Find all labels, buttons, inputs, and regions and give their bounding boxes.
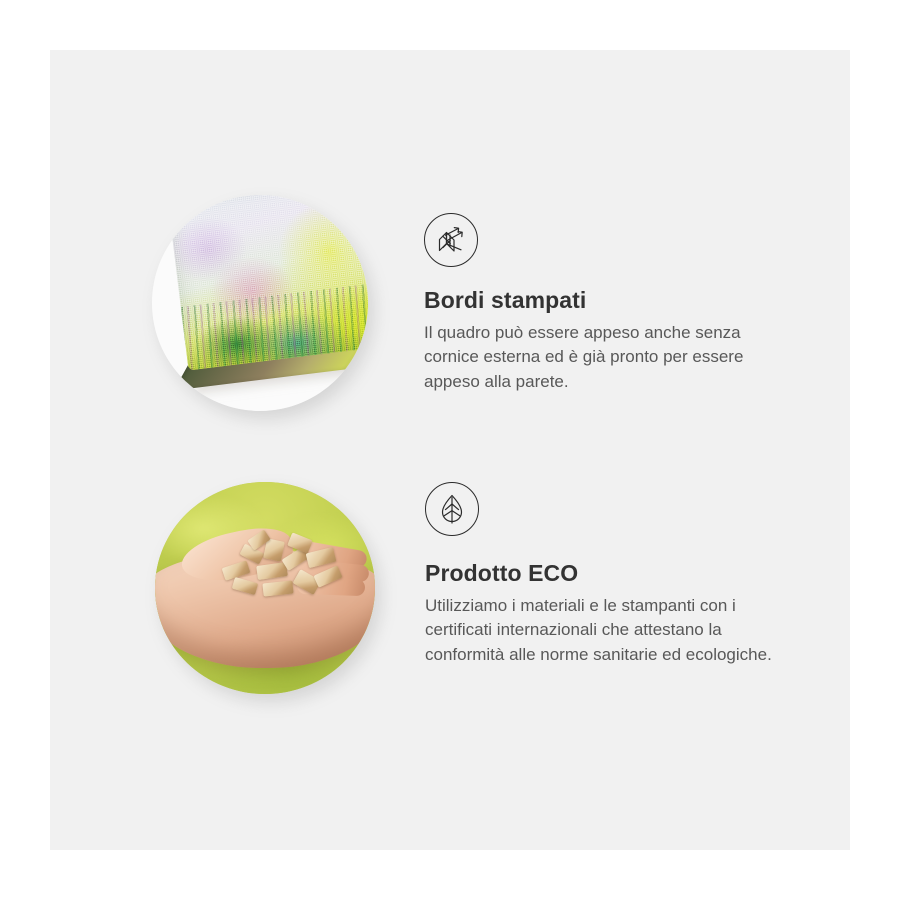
canvas-block — [168, 195, 368, 411]
promo-page: Bordi stampati Il quadro può essere appe… — [0, 0, 900, 900]
content-panel — [50, 50, 850, 850]
canvas-photo-backdrop — [152, 195, 368, 411]
wood-chip — [232, 577, 258, 595]
feature-title: Prodotto ECO — [425, 560, 795, 588]
wood-chip — [313, 565, 342, 587]
feature-description: Utilizziamo i materiali e le stampanti c… — [425, 594, 787, 668]
wood-chip — [256, 562, 288, 580]
wood-chip — [306, 547, 337, 568]
feature-bordi-stampati: Bordi stampati Il quadro può essere appe… — [152, 195, 794, 411]
meadow-background — [155, 482, 375, 694]
feature-title: Bordi stampati — [424, 287, 794, 315]
canvas-printed-face — [168, 195, 368, 371]
wood-chips — [219, 534, 347, 606]
canvas-corner-photo — [152, 195, 368, 411]
printed-edges-icon — [424, 213, 478, 267]
wood-chip — [287, 532, 313, 553]
feature-prodotto-eco: Prodotto ECO Utilizziamo i materiali e l… — [155, 482, 795, 694]
feature-text-block: Prodotto ECO Utilizziamo i materiali e l… — [425, 482, 795, 668]
feature-description: Il quadro può essere appeso anche senza … — [424, 321, 786, 395]
feature-text-block: Bordi stampati Il quadro può essere appe… — [424, 195, 794, 395]
leaf-icon — [425, 482, 479, 536]
wood-chip — [262, 580, 293, 596]
eco-wood-chips-photo — [155, 482, 375, 694]
